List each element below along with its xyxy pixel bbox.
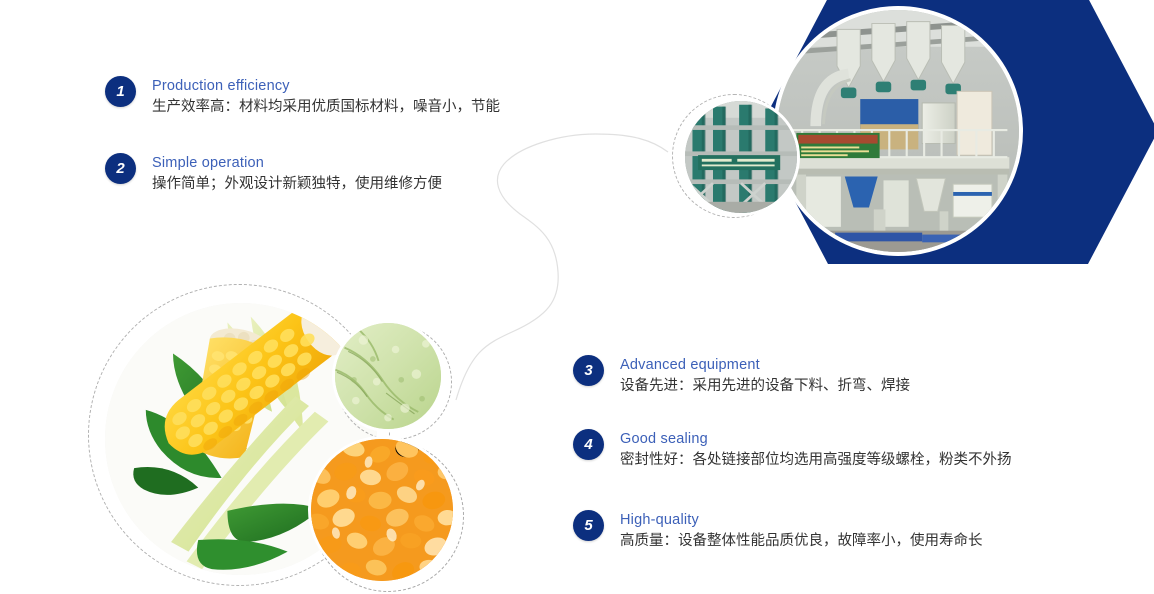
feature-item-3[interactable]: 3 Advanced equipment 设备先进：采用先进的设备下料、折弯、焊…: [573, 355, 910, 397]
feature-title-cn-3: 设备先进：采用先进的设备下料、折弯、焊接: [620, 376, 910, 397]
feature-badge-5: 5: [573, 510, 604, 541]
hexagon-photo-group: [660, 0, 1154, 268]
feature-text-3: Advanced equipment 设备先进：采用先进的设备下料、折弯、焊接: [620, 355, 910, 397]
milling-plant-photo-art: [777, 10, 1019, 252]
feature-text-2: Simple operation 操作简单；外观设计新颖独特，使用维修方便: [152, 153, 442, 195]
feature-title-en-2: Simple operation: [152, 154, 442, 172]
green-milling-machine-photo-art: [685, 101, 797, 213]
feature-title-en-5: High-quality: [620, 511, 983, 529]
page-root: 1 Production efficiency 生产效率高：材料均采用优质国标材…: [0, 0, 1154, 591]
feature-title-cn-4: 密封性好：各处链接部位均选用高强度等级螺栓，粉类不外扬: [620, 450, 1012, 471]
feature-title-cn-1: 生产效率高：材料均采用优质国标材料，噪音小，节能: [152, 97, 500, 118]
feature-item-2[interactable]: 2 Simple operation 操作简单；外观设计新颖独特，使用维修方便: [105, 153, 442, 195]
feature-title-cn-2: 操作简单；外观设计新颖独特，使用维修方便: [152, 174, 442, 195]
feature-badge-1: 1: [105, 76, 136, 107]
corn-photo-group: [88, 282, 488, 594]
corn-paste-photo: [332, 320, 444, 432]
feature-badge-4: 4: [573, 429, 604, 460]
feature-title-en-4: Good sealing: [620, 430, 1012, 448]
feature-text-1: Production efficiency 生产效率高：材料均采用优质国标材料，…: [152, 76, 500, 118]
feature-title-cn-5: 高质量：设备整体性能品质优良，故障率小，使用寿命长: [620, 531, 983, 552]
corn-grits-photo: [308, 436, 456, 584]
feature-text-5: High-quality 高质量：设备整体性能品质优良，故障率小，使用寿命长: [620, 510, 983, 552]
feature-item-5[interactable]: 5 High-quality 高质量：设备整体性能品质优良，故障率小，使用寿命长: [573, 510, 983, 552]
feature-item-4[interactable]: 4 Good sealing 密封性好：各处链接部位均选用高强度等级螺栓，粉类不…: [573, 429, 1012, 471]
feature-title-en-3: Advanced equipment: [620, 356, 910, 374]
corn-grits-photo-art: [311, 439, 453, 581]
green-milling-machine-photo: [682, 98, 800, 216]
feature-badge-3: 3: [573, 355, 604, 386]
feature-item-1[interactable]: 1 Production efficiency 生产效率高：材料均采用优质国标材…: [105, 76, 500, 118]
feature-badge-2: 2: [105, 153, 136, 184]
feature-title-en-1: Production efficiency: [152, 77, 500, 95]
milling-plant-photo: [773, 6, 1023, 256]
corn-paste-photo-art: [335, 323, 441, 429]
feature-text-4: Good sealing 密封性好：各处链接部位均选用高强度等级螺栓，粉类不外扬: [620, 429, 1012, 471]
